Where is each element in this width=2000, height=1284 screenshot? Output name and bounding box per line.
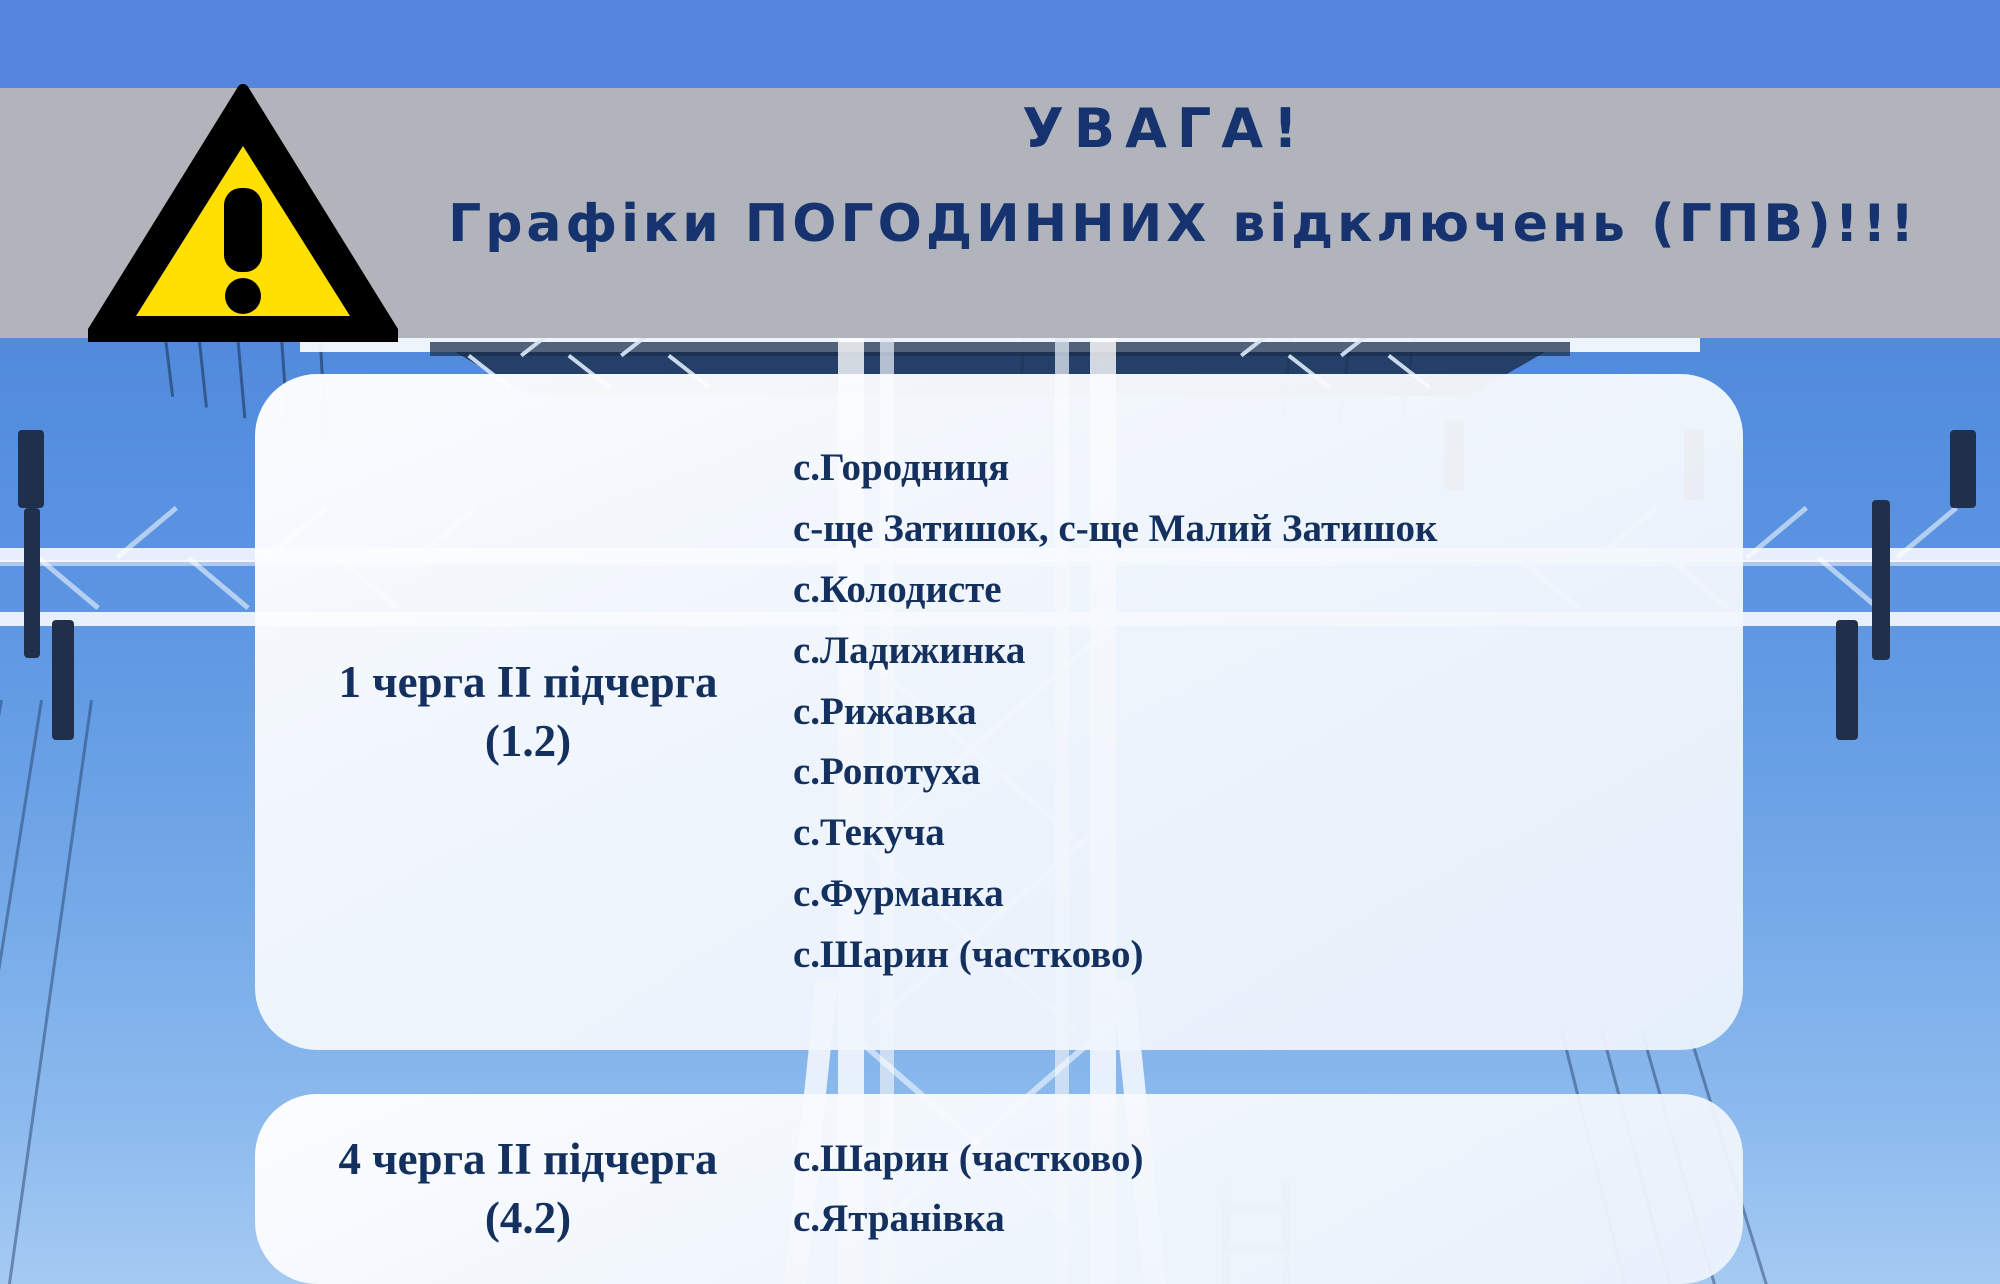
list-item: с.Рижавка [793,682,1713,743]
schedule-card-queue-4-2: 4 черга II підчерга (4.2) с.Шарин (частк… [255,1094,1743,1284]
list-item: с.Текуча [793,803,1713,864]
list-item: с.Шарин (частково) [793,925,1713,986]
page-title: УВАГА! [1022,102,1307,156]
schedule-card-queue-1-2: 1 черга II підчерга (1.2) с.Городниця с-… [255,374,1743,1050]
list-item: с.Городниця [793,438,1713,499]
poster: УВАГА! Графіки ПОГОДИННИХ відключень (ГП… [0,0,2000,1284]
list-item: с.Шарин (частково) [793,1129,1713,1189]
header-blue-band [0,0,2000,88]
list-item: с.Ладижинка [793,621,1713,682]
queue-label-2-line2: (4.2) [263,1189,793,1248]
list-item: с.Фурманка [793,864,1713,925]
queue-label-1-line1: 1 черга II підчерга [338,657,717,707]
header-text-block: УВАГА! Графіки ПОГОДИННИХ відключень (ГП… [330,96,2000,336]
page-subtitle: Графіки ПОГОДИННИХ відключень (ГПВ)!!! [448,198,1918,250]
queue-label-1-line2: (1.2) [263,712,793,771]
queue-label-2-line1: 4 черга II підчерга [338,1134,717,1184]
queue-label-2: 4 черга II підчерга (4.2) [255,1130,793,1249]
list-item: с.Ятранівка [793,1189,1713,1249]
queue-label-1: 1 черга II підчерга (1.2) [255,653,793,772]
list-item: с.Ропотуха [793,742,1713,803]
settlement-list-1: с.Городниця с-ще Затишок, с-ще Малий Зат… [793,438,1743,985]
list-item: с.Колодисте [793,560,1713,621]
list-item: с-ще Затишок, с-ще Малий Затишок [793,499,1713,560]
settlement-list-2: с.Шарин (частково) с.Ятранівка [793,1129,1743,1250]
